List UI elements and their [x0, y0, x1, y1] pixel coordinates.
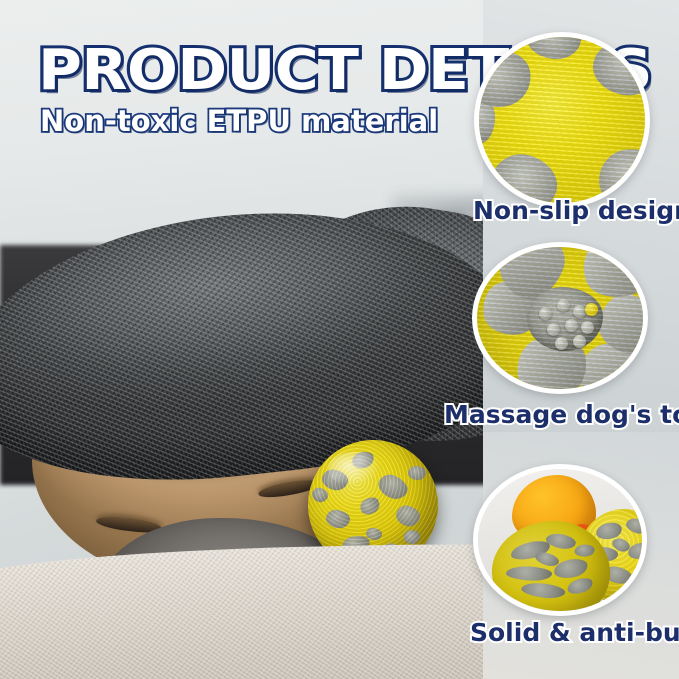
non-slip-texture [475, 33, 649, 207]
product-detail-image: PRODUCT DETAILS Non-toxic ETPU material … [0, 0, 679, 679]
anti-burst-scene [478, 469, 642, 611]
callout-label-massage: Massage dog's tongue [444, 400, 679, 429]
callout-image-anti-burst [473, 464, 647, 616]
callout-image-massage [472, 242, 648, 394]
ripple-texture [472, 242, 648, 394]
callout-label-anti-burst: Solid & anti-burst [470, 618, 652, 647]
cut-ball-half [489, 517, 614, 616]
cut-face [489, 517, 614, 616]
massage-texture [472, 242, 648, 394]
page-subtitle: Non-toxic ETPU material [40, 104, 438, 138]
ball-highlight [328, 452, 380, 486]
callout-label-non-slip: Non-slip design [473, 196, 651, 225]
ripple-texture [475, 33, 649, 207]
callout-image-non-slip [474, 32, 650, 208]
